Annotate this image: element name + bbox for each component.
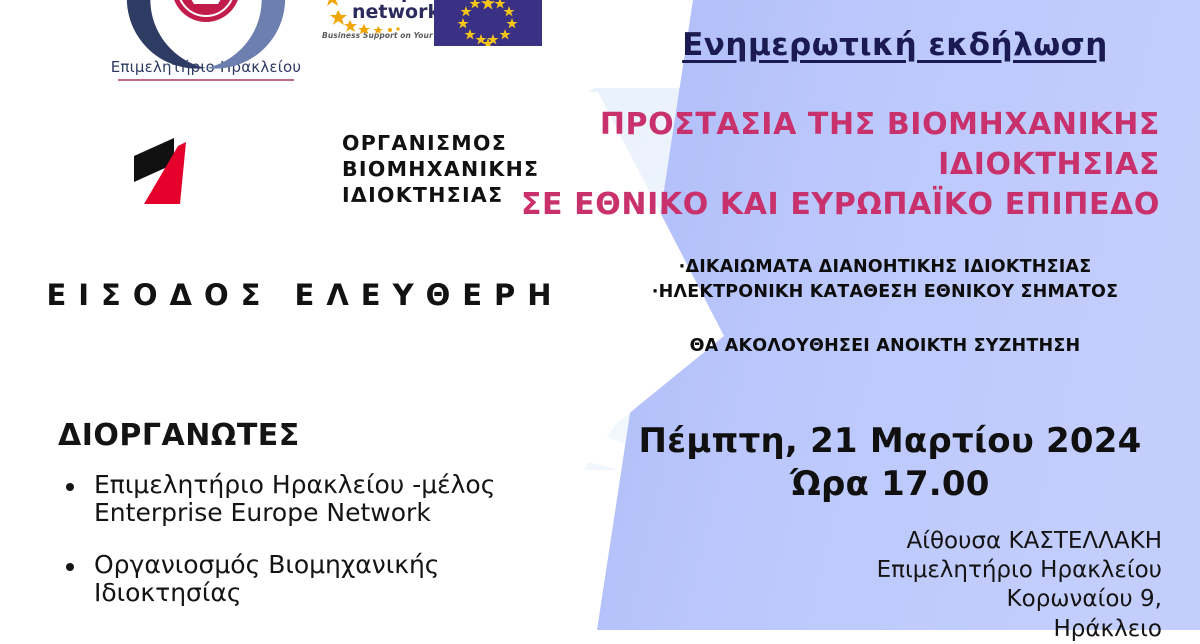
list-item: Οργανιοσμός Βιομηχανικής Ιδιοκτησίας <box>58 551 578 607</box>
event-title-line-1: ΠΡΟΣΤΑΣΙΑ ΤΗΣ ΒΙΟΜΗΧΑΝΙΚΗΣ <box>600 107 1160 142</box>
list-item: Επιμελητήριο Ηρακλείου -μέλος Enterprise… <box>58 471 578 527</box>
topics-list: ·ΔΙΚΑΙΩΜΑΤΑ ΔΙΑΝΟΗΤΙΚΗΣ ΙΔΙΟΚΤΗΣΙΑΣ ·ΗΛΕ… <box>600 255 1170 306</box>
organisers-list: Επιμελητήριο Ηρακλείου -μέλος Enterprise… <box>58 471 578 607</box>
event-time: Ώρα 17.00 <box>600 463 1180 506</box>
event-datetime: Πέμπτη, 21 Μαρτίου 2024 Ώρα 17.00 <box>600 420 1180 506</box>
organisers-block: ΔΙΟΡΓΑΝΩΤΕΣ Επιμελητήριο Ηρακλείου -μέλο… <box>58 418 578 631</box>
poster-canvas: Επιμελητήριο Ηρακλείου enterprise Europe… <box>0 0 1200 630</box>
obi-logo-group: ΟΡΓΑΝΙΣΜΟΣ ΒΙΟΜΗΧΑΝΙΚΗΣ ΙΔΙΟΚΤΗΣΙΑΣ <box>130 130 382 212</box>
free-entry-text: ΕΙΣΟΔΟΣ ΕΛΕΥΘΕΡΗ <box>0 278 610 312</box>
venue-line-3: Κορωναίου 9, <box>620 585 1162 614</box>
svg-text:network: network <box>352 1 440 23</box>
organiser-2-line-1: Οργανιοσμός Βιομηχανικής <box>94 550 439 579</box>
enterprise-europe-network-logo: enterprise Europe network <box>322 0 442 46</box>
obi-mark-icon <box>130 134 208 208</box>
open-discussion-note: ΘΑ ΑΚΟΛΟΥΘΗΣΕΙ ΑΝΟΙΚΤΗ ΣΥΖΗΤΗΣΗ <box>600 336 1170 356</box>
topic-item-1: ·ΔΙΚΑΙΩΜΑΤΑ ΔΙΑΝΟΗΤΙΚΗΣ ΙΔΙΟΚΤΗΣΙΑΣ <box>600 255 1170 280</box>
venue-line-2: Επιμελητήριο Ηρακλείου <box>620 556 1162 585</box>
organiser-1-line-1: Επιμελητήριο Ηρακλείου -μέλος <box>94 470 495 499</box>
event-date: Πέμπτη, 21 Μαρτίου 2024 <box>639 421 1142 461</box>
chamber-of-heraklion-logo <box>118 0 294 80</box>
event-title-line-2: ΙΔΙΟΚΤΗΣΙΑΣ <box>938 147 1160 182</box>
organiser-2-line-2: Ιδιοκτησίας <box>94 579 578 607</box>
topic-item-2: ·ΗΛΕΚΤΡΟΝΙΚΗ ΚΑΤΑΘΕΣΗ ΕΘΝΙΚΟΥ ΣΗΜΑΤΟΣ <box>600 280 1170 305</box>
event-title-line-3: ΣΕ ΕΘΝΙΚΟ ΚΑΙ ΕΥΡΩΠΑΪΚΟ ΕΠΙΠΕΔΟ <box>500 185 1160 225</box>
organiser-1-line-2: Enterprise Europe Network <box>94 499 578 527</box>
event-kind-heading: Ενημερωτική εκδήλωση <box>610 27 1180 63</box>
venue-line-4: Ηράκλειο <box>620 615 1162 644</box>
european-union-flag <box>434 0 542 46</box>
venue-line-1: Αίθουσα ΚΑΣΤΕΛΛΑΚΗ <box>620 527 1162 556</box>
organisers-heading: ΔΙΟΡΓΑΝΩΤΕΣ <box>58 418 578 453</box>
event-title: ΠΡΟΣΤΑΣΙΑ ΤΗΣ ΒΙΟΜΗΧΑΝΙΚΗΣ ΙΔΙΟΚΤΗΣΙΑΣ Σ… <box>500 105 1160 225</box>
event-venue: Αίθουσα ΚΑΣΤΕΛΛΑΚΗ Επιμελητήριο Ηρακλείο… <box>620 527 1180 644</box>
obi-line-1: ΟΡΓΑΝΙΣΜΟΣ <box>342 133 507 154</box>
obi-line-3: ΙΔΙΟΚΤΗΣΙΑΣ <box>342 185 503 206</box>
